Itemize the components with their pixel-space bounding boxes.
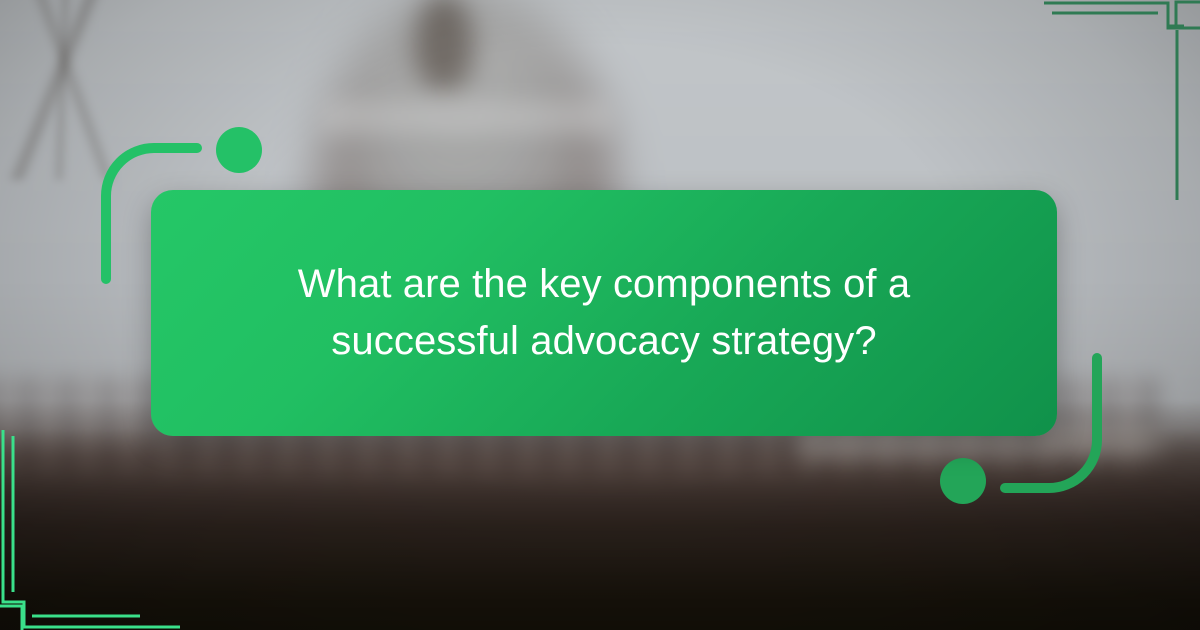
question-text: What are the key components of a success… [274, 256, 934, 370]
accent-dot-top-left [216, 127, 262, 173]
circuit-top-right-icon [1020, 0, 1200, 200]
question-card-graphic: What are the key components of a success… [0, 0, 1200, 630]
question-card: What are the key components of a success… [151, 190, 1057, 436]
circuit-bottom-left-icon [0, 430, 180, 630]
accent-dot-bottom-right [940, 458, 986, 504]
